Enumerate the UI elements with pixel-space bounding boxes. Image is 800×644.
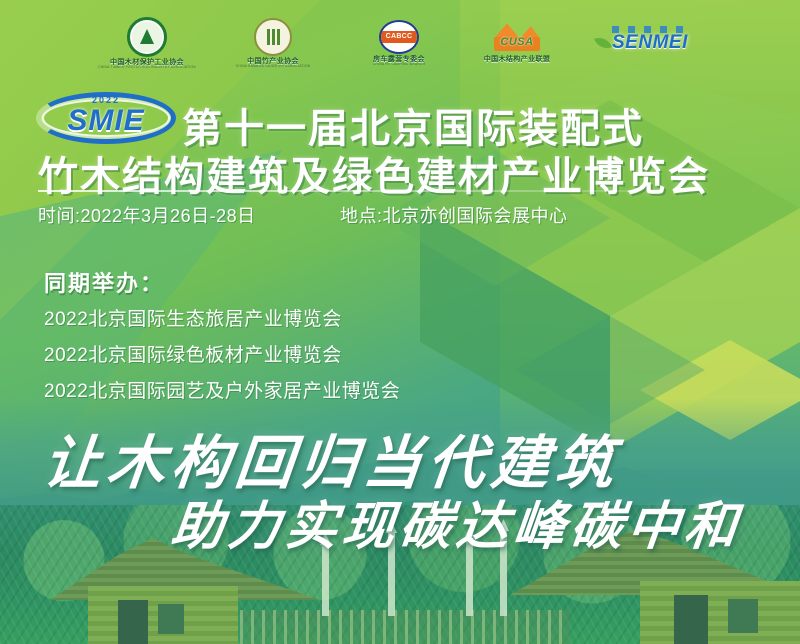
sponsor-name-en: CHINA RV CAMPING BRANCH <box>373 63 426 66</box>
headline-divider <box>38 190 638 192</box>
cabin-wall <box>640 581 800 644</box>
event-venue: 地点:北京亦创国际会展中心 <box>340 202 568 228</box>
sponsor-abbr: CABCC <box>386 33 413 40</box>
senmei-leaf-icon: SENMEI <box>596 26 692 60</box>
bamboo-seal-icon <box>254 18 292 56</box>
tree-seal-icon <box>127 17 167 57</box>
sponsor-name-en: CHINA BAMBOO INDUSTRY ASSOCIATION <box>236 65 311 68</box>
concurrent-heading: 同期举办： <box>44 266 164 298</box>
sponsor-abbr: CUSA <box>490 36 544 48</box>
headline-line-2: 竹木结构建筑及绿色建材产业博览会 <box>38 144 710 202</box>
sponsor-logo-row: 中国木材保护工业协会 CHINA TIMBER PROTECTION INDUS… <box>0 8 800 78</box>
concurrent-event-item: 2022北京国际绿色板材产业博览会 <box>44 340 342 367</box>
sponsor-logo-china-timber-protection-association: 中国木材保护工业协会 CHINA TIMBER PROTECTION INDUS… <box>101 12 193 74</box>
exhibition-poster: 中国木材保护工业协会 CHINA TIMBER PROTECTION INDUS… <box>0 0 800 644</box>
smie-emblem: 2022 SMIE <box>36 92 176 144</box>
sponsor-logo-cusa-wood-structure-alliance: CUSA 中国木结构产业联盟 <box>479 12 555 74</box>
cabin-window <box>728 599 758 633</box>
concurrent-event-item: 2022北京国际生态旅居产业博览会 <box>44 304 342 331</box>
smie-wordmark: SMIE <box>36 104 176 138</box>
sponsor-logo-cabcc-rv-camping-committee: CABCC 房车露营专委会 CHINA RV CAMPING BRANCH <box>353 12 445 74</box>
slogan-line-2: 助力实现碳达峰碳中和 <box>168 484 746 559</box>
cabcc-seal-icon: CABCC <box>379 20 419 54</box>
house-logo-icon: CUSA <box>490 24 544 54</box>
cabin-door <box>674 595 708 644</box>
event-date: 时间:2022年3月26日-28日 <box>38 202 256 228</box>
sponsor-name-en: CHINA TIMBER PROTECTION INDUSTRY ASSOCIA… <box>98 66 196 69</box>
sponsor-abbr: SENMEI <box>612 32 688 54</box>
sponsor-name-cn: 中国木结构产业联盟 <box>484 56 551 63</box>
cabin-door <box>118 600 148 644</box>
cabin-window <box>158 604 184 634</box>
concurrent-event-item: 2022北京国际园艺及户外家居产业博览会 <box>44 376 400 403</box>
sponsor-logo-senmei: SENMEI <box>589 12 699 74</box>
sponsor-logo-bamboo-industry-association: 中国竹产业协会 CHINA BAMBOO INDUSTRY ASSOCIATIO… <box>227 12 319 74</box>
